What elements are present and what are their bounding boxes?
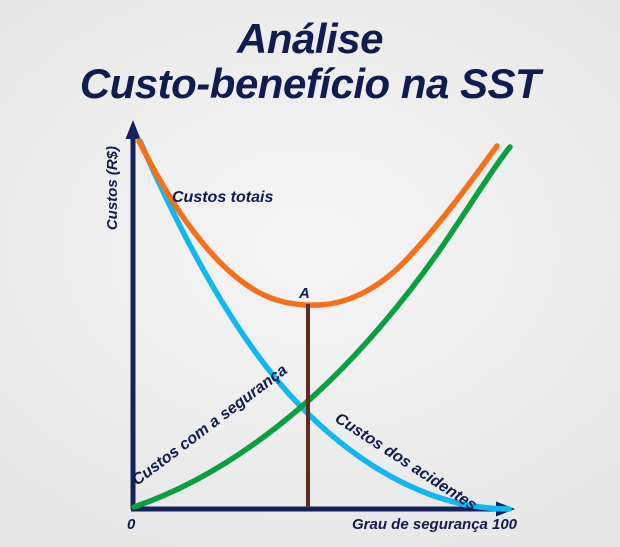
x-tick-label-100: 100 [492,516,517,533]
y-axis-arrowhead [126,120,141,139]
total-cost-curve [139,141,497,305]
x-tick-label-0: 0 [127,516,135,533]
y-axis-label: Custos (R$) [104,146,121,230]
total-cost-curve-label: Custos totais [172,189,273,207]
optimum-point-label: A [299,285,310,302]
chart-canvas: Análise Custo-benefício na SST Custos (R… [0,0,620,547]
cost-benefit-plot [0,0,620,547]
x-axis-label: Grau de segurança [352,516,488,533]
